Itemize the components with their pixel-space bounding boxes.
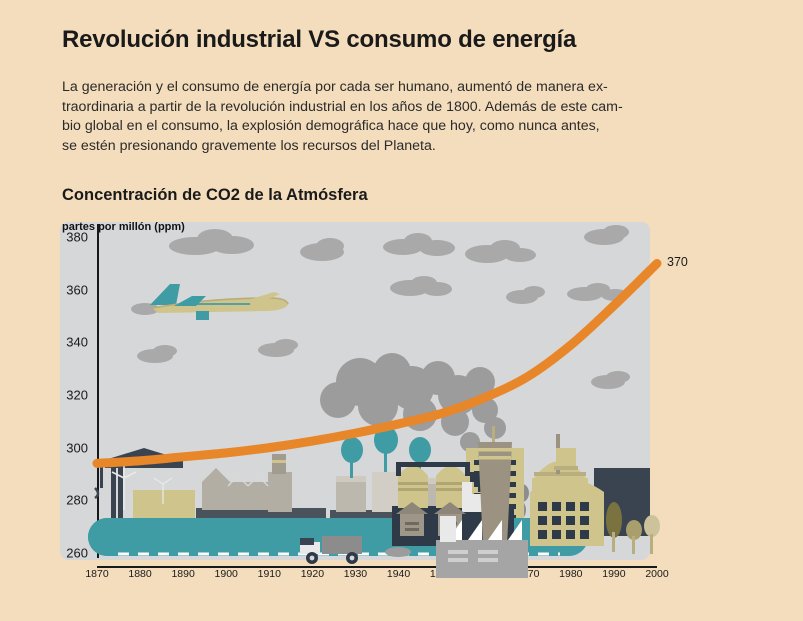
intro-paragraph: La generación y el consumo de energía po… bbox=[62, 78, 752, 156]
infographic-page: Revolución industrial VS consumo de ener… bbox=[0, 0, 803, 621]
truck-icon bbox=[300, 536, 362, 564]
khaki-mansion bbox=[530, 448, 604, 546]
chart-illustration bbox=[0, 210, 803, 610]
airplane-icon bbox=[150, 284, 288, 320]
rock bbox=[385, 547, 411, 557]
co2-chart: partes por millón (ppm) 2602803003203403… bbox=[0, 210, 803, 610]
chart-title: Concentración de CO2 de la Atmósfera bbox=[62, 186, 368, 205]
end-value-label: 370 bbox=[667, 255, 688, 269]
page-title: Revolución industrial VS consumo de ener… bbox=[62, 26, 576, 54]
